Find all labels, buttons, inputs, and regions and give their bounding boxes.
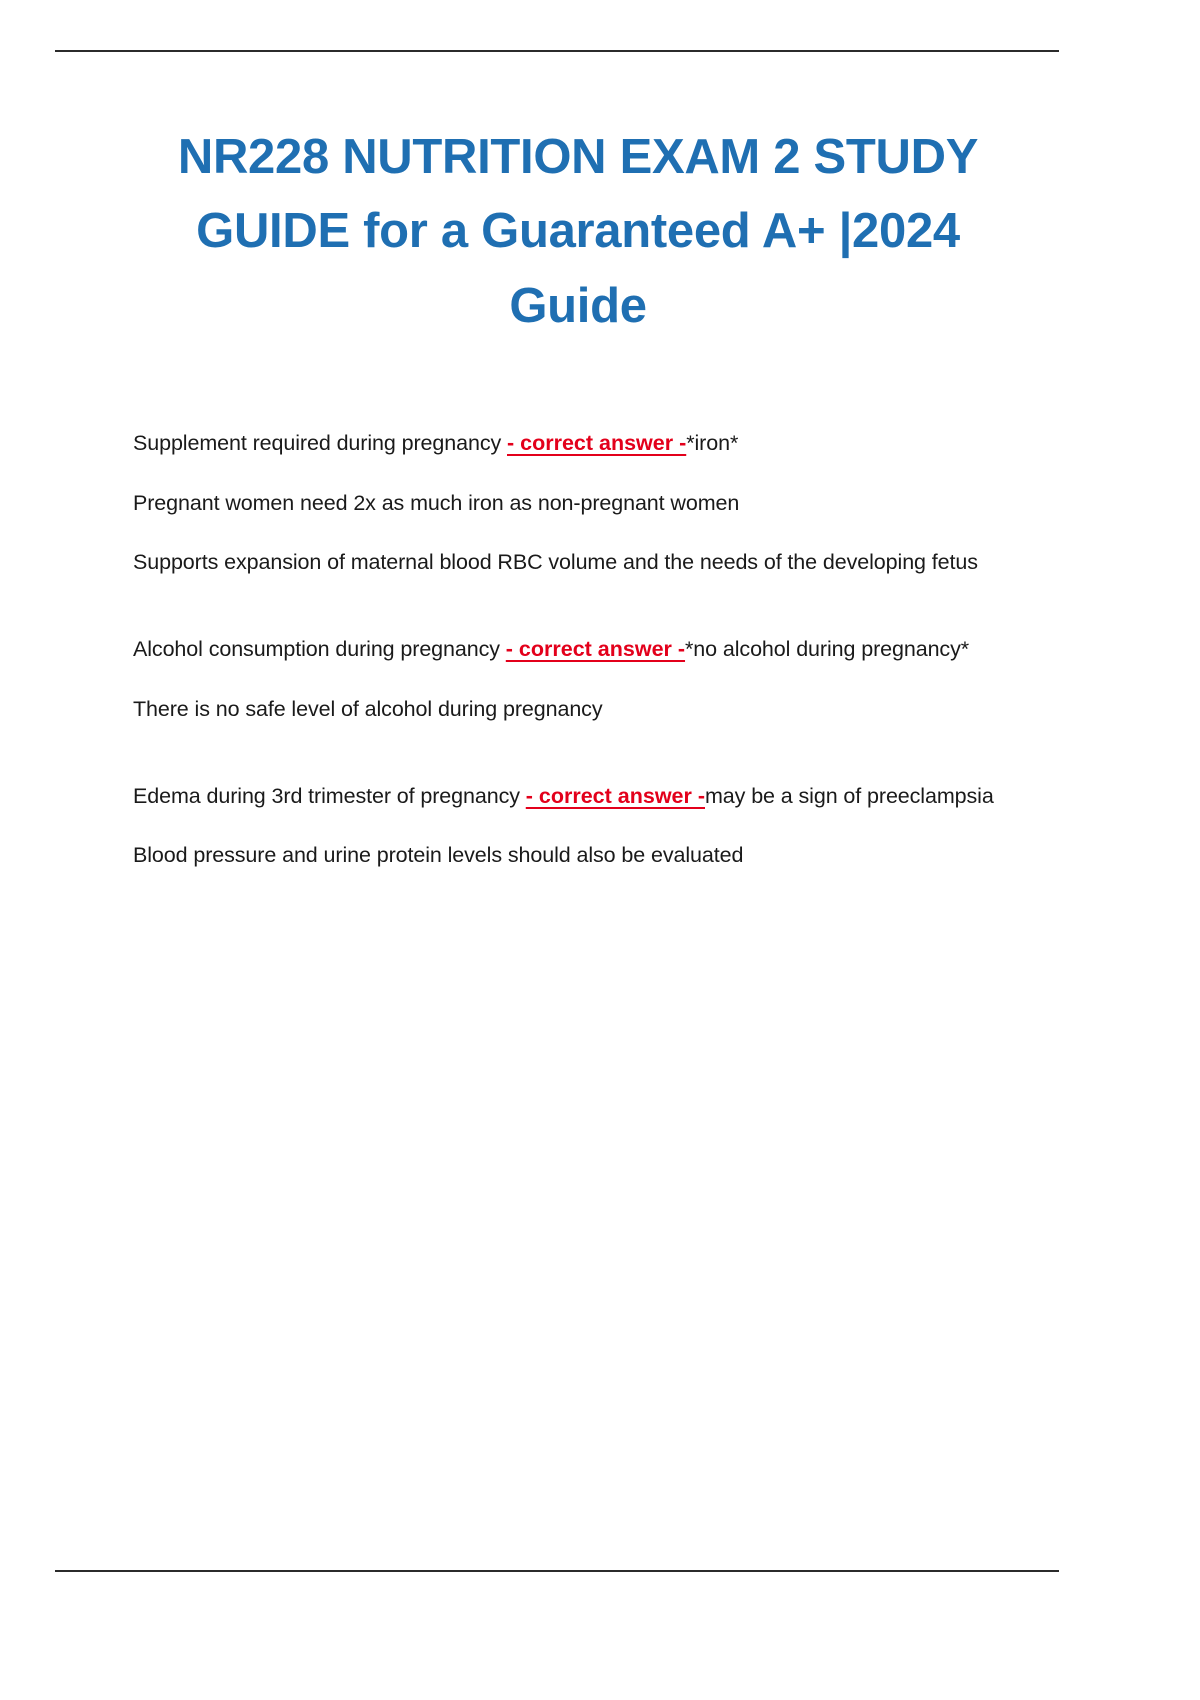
page-bottom-rule — [55, 1570, 1059, 1572]
qa-note: Blood pressure and urine protein levels … — [133, 839, 1023, 872]
page-top-rule — [55, 50, 1059, 52]
correct-answer-separator: - correct answer - — [526, 784, 705, 808]
qa-note: There is no safe level of alcohol during… — [133, 693, 1023, 726]
qa-prompt-line: Alcohol consumption during pregnancy - c… — [133, 633, 1023, 666]
document-content: NR228 NUTRITION EXAM 2 STUDY GUIDE for a… — [133, 120, 1023, 873]
document-page: NR228 NUTRITION EXAM 2 STUDY GUIDE for a… — [0, 0, 1200, 1700]
qa-answer-text: may be a sign of preeclampsia — [705, 784, 994, 808]
correct-answer-separator: - correct answer - — [506, 637, 685, 661]
page-title: NR228 NUTRITION EXAM 2 STUDY GUIDE for a… — [133, 120, 1023, 343]
qa-prompt-line: Supplement required during pregnancy - c… — [133, 427, 1023, 460]
qa-block: Alcohol consumption during pregnancy - c… — [133, 633, 1023, 726]
qa-question-text: Supplement required during pregnancy — [133, 431, 507, 455]
qa-block: Edema during 3rd trimester of pregnancy … — [133, 780, 1023, 873]
qa-note: Pregnant women need 2x as much iron as n… — [133, 487, 1023, 520]
qa-note: Supports expansion of maternal blood RBC… — [133, 546, 1023, 579]
qa-question-text: Edema during 3rd trimester of pregnancy — [133, 784, 526, 808]
qa-answer-text: *iron* — [686, 431, 738, 455]
qa-block-list: Supplement required during pregnancy - c… — [133, 427, 1023, 872]
qa-question-text: Alcohol consumption during pregnancy — [133, 637, 506, 661]
qa-block: Supplement required during pregnancy - c… — [133, 427, 1023, 579]
correct-answer-separator: - correct answer - — [507, 431, 686, 455]
qa-prompt-line: Edema during 3rd trimester of pregnancy … — [133, 780, 1023, 813]
qa-answer-text: *no alcohol during pregnancy* — [685, 637, 969, 661]
